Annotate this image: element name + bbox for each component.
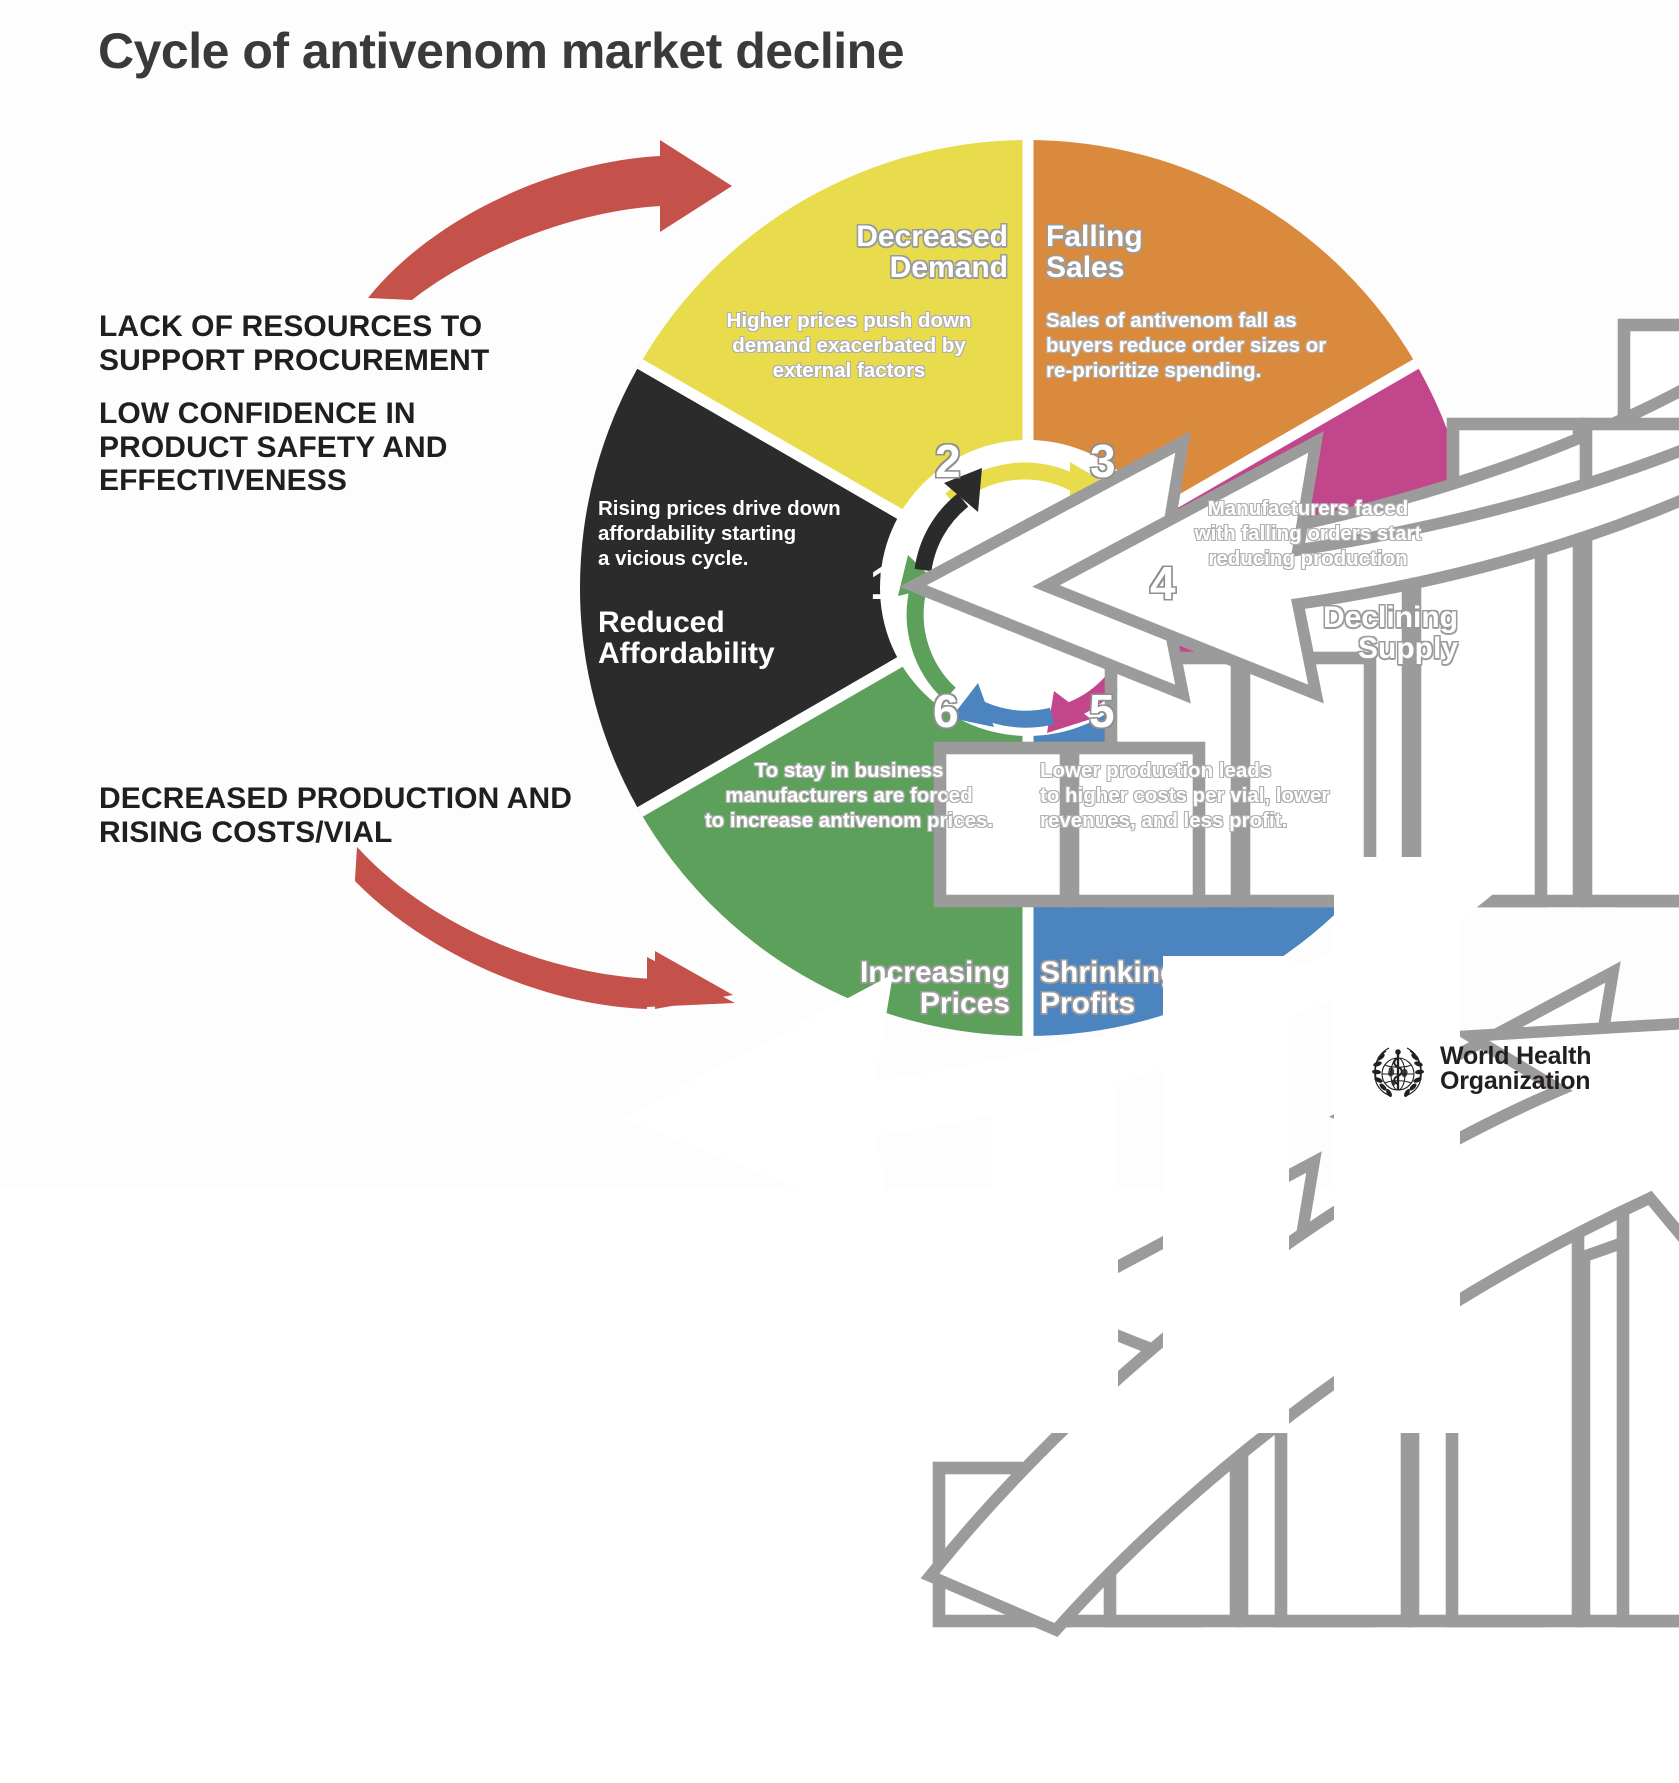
who-emblem-icon [1367,1038,1429,1100]
callout-decreased-production: DECREASED PRODUCTION AND RISING COSTS/VI… [99,782,619,849]
callout-low-confidence: LOW CONFIDENCE IN PRODUCT SAFETY AND EFF… [99,397,569,498]
who-wordmark: World Health Organization [1440,1044,1591,1095]
wheel-svg [578,138,1478,1038]
who-logo: World Health Organization [1367,1038,1591,1100]
cycle-wheel: Decreased Demand Higher prices push down… [578,138,1478,1038]
who-line-2: Organization [1440,1067,1590,1095]
callout-lack-of-resources: LACK OF RESOURCES TO SUPPORT PROCUREMENT [99,310,619,377]
page-title: Cycle of antivenom market decline [98,22,904,80]
infographic-canvas: Cycle of antivenom market decline LACK O… [0,0,1679,1190]
who-line-1: World Health [1440,1042,1591,1070]
hub-inner-disc [952,512,1104,664]
